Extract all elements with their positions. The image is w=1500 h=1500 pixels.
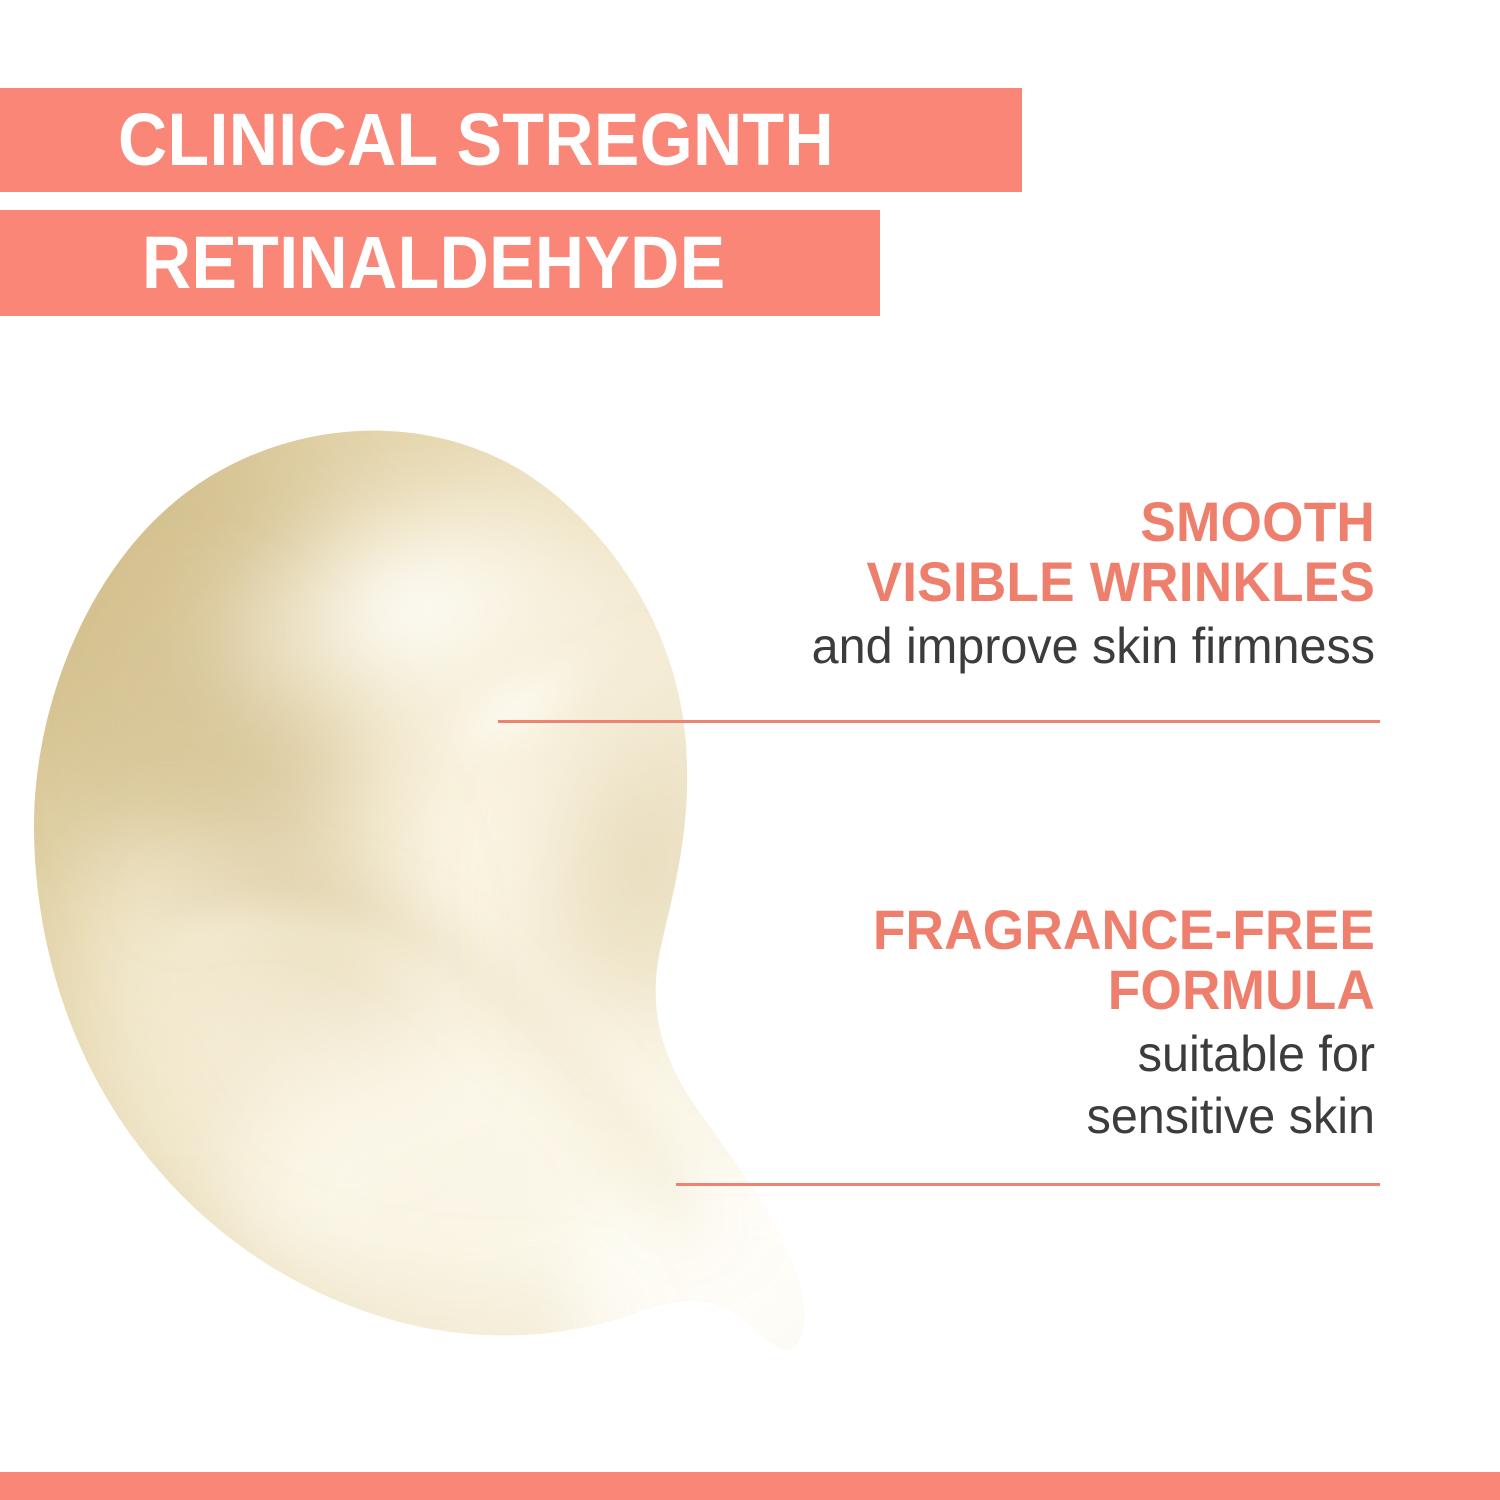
footer-coral-bar [0,1472,1500,1500]
feature-heading-line-2: FORMULA [672,960,1375,1020]
product-feature-graphic: CLINICAL STREGNTH RETINALDEHYDE [0,0,1500,1500]
feature-subtext-line-1: and improve skin firmness [657,617,1375,675]
divider-rule-fragrance [676,1183,1380,1186]
header-banner-retinaldehyde: RETINALDEHYDE [0,210,880,316]
feature-heading-line-1: SMOOTH [672,492,1375,552]
feature-subtext-line-1: suitable for [657,1025,1375,1083]
feature-heading-line-2: VISIBLE WRINKLES [672,552,1375,612]
header-banner-clinical-strength: CLINICAL STREGNTH [0,88,1022,192]
feature-block-smooth-wrinkles: SMOOTH VISIBLE WRINKLES and improve skin… [635,492,1375,675]
feature-block-fragrance-free: FRAGRANCE-FREE FORMULA suitable for sens… [635,900,1375,1145]
header-line-2: RETINALDEHYDE [142,226,726,300]
feature-heading-line-1: FRAGRANCE-FREE [672,900,1375,960]
feature-subtext-line-2: sensitive skin [657,1087,1375,1145]
header-line-1: CLINICAL STREGNTH [118,103,834,177]
divider-rule-wrinkles [498,720,1380,723]
